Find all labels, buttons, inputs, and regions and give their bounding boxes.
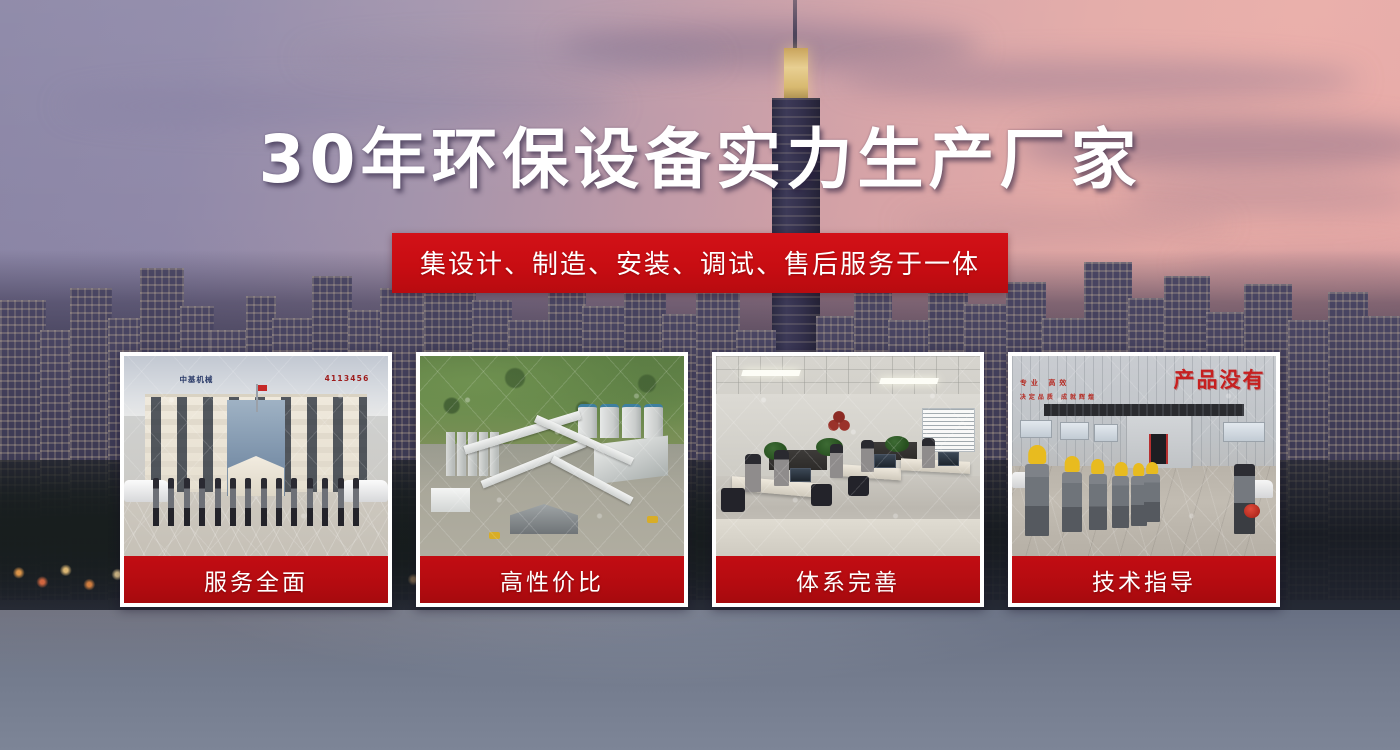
ceiling-light (742, 370, 802, 376)
building-sign-text: 中基机械 (179, 374, 274, 385)
worker-with-helmet (1025, 464, 1049, 536)
office-ceiling (716, 356, 980, 396)
office-interior-photo (716, 356, 980, 556)
potted-plant (885, 436, 909, 452)
staff-lineup (153, 478, 359, 526)
cloud-shape (840, 60, 1360, 100)
factory-window (1020, 420, 1052, 438)
excavator (489, 532, 500, 539)
office-staff (861, 440, 874, 472)
feature-card[interactable]: 产品没有 专业 高效 决定品质 成就辉煌 (1008, 352, 1280, 607)
feature-card[interactable]: 体系完善 (712, 352, 984, 607)
tower-crown-lights (784, 48, 808, 104)
computer-monitor (938, 452, 959, 466)
card-caption: 技术指导 (1012, 556, 1276, 603)
ceiling-light (879, 378, 939, 384)
supervisor (1234, 464, 1255, 534)
office-staff (774, 450, 789, 486)
worker-with-helmet (1062, 472, 1082, 532)
page-title: 30年环保设备实力生产厂家 (0, 127, 1400, 193)
office-chair (811, 484, 832, 506)
flagpole (256, 384, 258, 412)
worker-with-helmet (1144, 474, 1160, 522)
card-caption: 服务全面 (124, 556, 388, 603)
workers-training-photo: 产品没有 专业 高效 决定品质 成就辉煌 (1012, 356, 1276, 556)
factory-wall-slogan-small: 决定品质 成就辉煌 (1020, 392, 1097, 401)
computer-monitor (790, 468, 811, 482)
office-staff (830, 444, 843, 478)
card-caption: 高性价比 (420, 556, 684, 603)
card-caption: 体系完善 (716, 556, 980, 603)
hero-banner: 30年环保设备实力生产厂家 集设计、制造、安装、调试、售后服务于一体 中基机械 … (0, 0, 1400, 750)
subtitle-banner: 集设计、制造、安装、调试、售后服务于一体 (392, 233, 1008, 293)
factory-wall-slogan-small: 专业 高效 (1020, 378, 1070, 388)
office-staff (745, 454, 761, 492)
feature-card-row: 中基机械 4113456 服务全面 (120, 352, 1280, 607)
worker-with-helmet (1089, 474, 1107, 530)
feature-card[interactable]: 高性价比 (416, 352, 688, 607)
cloud-shape (60, 86, 620, 126)
facade-window-band (1044, 404, 1245, 416)
feature-card[interactable]: 中基机械 4113456 服务全面 (120, 352, 392, 607)
office-staff (922, 438, 935, 468)
office-chair (848, 476, 869, 496)
building-sign-phone: 4113456 (325, 374, 370, 383)
tower-spire (793, 0, 797, 52)
company-headquarters-photo: 中基机械 4113456 (124, 356, 388, 556)
cloud-shape (560, 24, 980, 70)
worker-with-helmet (1112, 476, 1129, 528)
office-chair (721, 488, 745, 512)
factory-window (1223, 422, 1265, 442)
site-office (431, 488, 471, 512)
factory-window (1060, 422, 1089, 440)
aerial-plant-photo (420, 356, 684, 556)
storage-silos (578, 404, 662, 438)
wall-emblem (822, 408, 856, 436)
factory-window (1094, 424, 1118, 442)
computer-monitor (874, 454, 895, 468)
side-door (1149, 434, 1167, 464)
factory-wall-slogan: 产品没有 (1173, 364, 1265, 394)
excavator (647, 516, 658, 523)
cloud-shape (300, 40, 720, 76)
subtitle-banner-wrap: 集设计、制造、安装、调试、售后服务于一体 (0, 233, 1400, 293)
